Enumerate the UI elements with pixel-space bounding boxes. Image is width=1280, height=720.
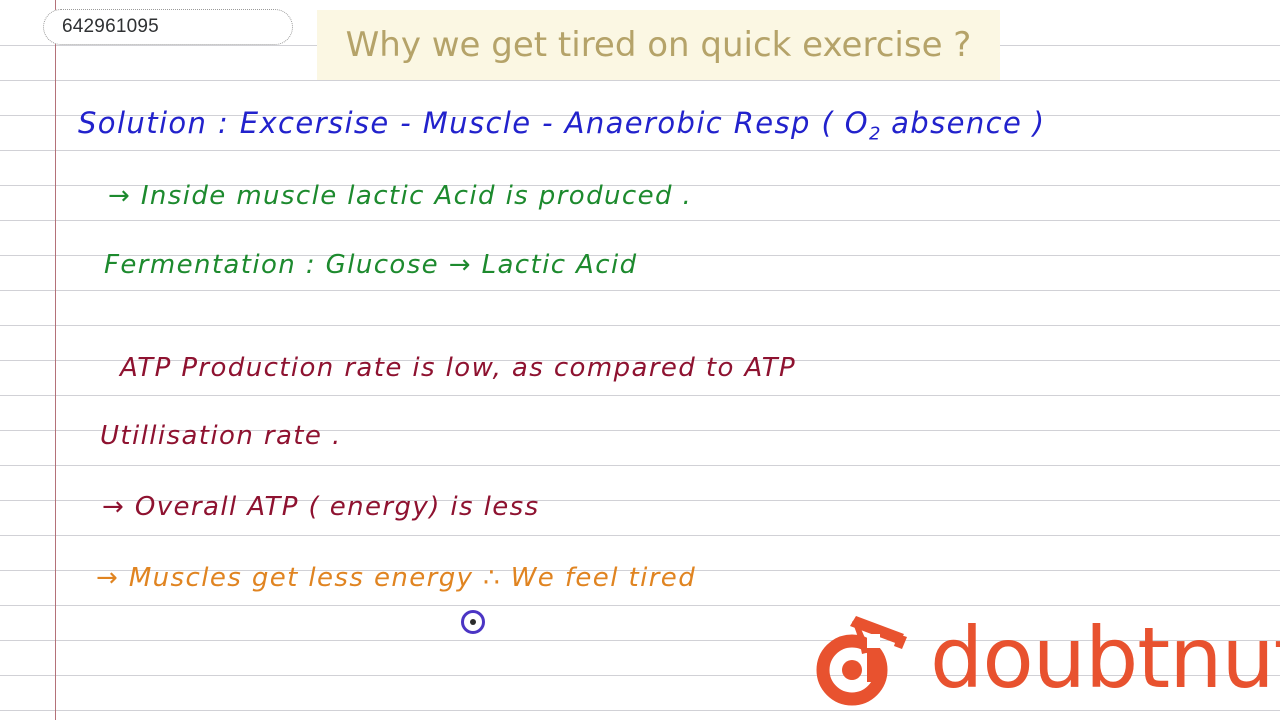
rule-line xyxy=(0,325,1280,326)
question-id-chip[interactable]: 642961095 xyxy=(43,9,293,45)
rule-line xyxy=(0,535,1280,536)
margin-rule-line xyxy=(55,0,56,720)
line-muscles-feel-tired: → Muscles get less energy ∴ We feel tire… xyxy=(96,563,696,593)
doubtnut-wordmark: doubtnut xyxy=(930,616,1280,700)
doubtnut-logo: doubtnut xyxy=(812,604,1280,714)
line-atp-production-rate: ATP Production rate is low, as compared … xyxy=(120,353,796,383)
line-utilisation-rate: Utillisation rate . xyxy=(100,421,342,451)
cursor-dot xyxy=(470,619,476,625)
rule-line xyxy=(0,395,1280,396)
line-solution-anaerobic: Solution : Excersise - Muscle - Anaerobi… xyxy=(78,106,1046,144)
rule-line xyxy=(0,150,1280,151)
rule-line xyxy=(0,220,1280,221)
line-overall-atp-less: → Overall ATP ( energy) is less xyxy=(102,492,540,522)
line-lactic-acid-produced: → Inside muscle lactic Acid is produced … xyxy=(108,181,692,211)
question-banner: Why we get tired on quick exercise ? xyxy=(317,10,1000,80)
cursor-marker-icon xyxy=(461,610,485,634)
question-id-text: 642961095 xyxy=(62,16,159,38)
rule-line xyxy=(0,290,1280,291)
notebook-page: 642961095 Why we get tired on quick exer… xyxy=(0,0,1280,720)
rule-line xyxy=(0,80,1280,81)
doubtnut-mark-icon xyxy=(812,604,932,714)
line-fermentation: Fermentation : Glucose → Lactic Acid xyxy=(104,250,637,280)
question-title: Why we get tired on quick exercise ? xyxy=(346,25,972,65)
rule-line xyxy=(0,465,1280,466)
